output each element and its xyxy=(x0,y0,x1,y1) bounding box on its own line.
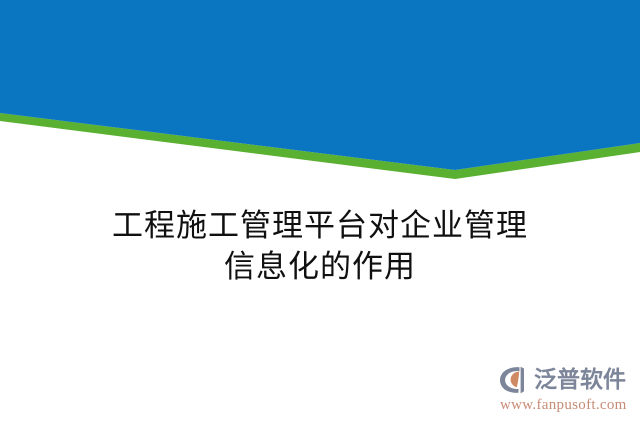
slide-title-line-1: 工程施工管理平台对企业管理 xyxy=(0,206,640,247)
presentation-slide: 工程施工管理平台对企业管理 信息化的作用 泛普软件 www.fanpusoft.… xyxy=(0,0,640,427)
header-green-band xyxy=(0,113,640,179)
header-chevron-banner xyxy=(0,0,640,180)
header-blue-band xyxy=(0,0,640,170)
fanpu-swoosh-icon xyxy=(498,365,532,395)
brand-name: 泛普软件 xyxy=(534,367,626,394)
slide-title: 工程施工管理平台对企业管理 信息化的作用 xyxy=(0,206,640,288)
brand-logo-row: 泛普软件 xyxy=(498,365,626,395)
slide-title-line-2: 信息化的作用 xyxy=(0,247,640,288)
brand-logo: 泛普软件 www.fanpusoft.com xyxy=(498,363,636,421)
brand-url: www.fanpusoft.com xyxy=(500,396,627,414)
